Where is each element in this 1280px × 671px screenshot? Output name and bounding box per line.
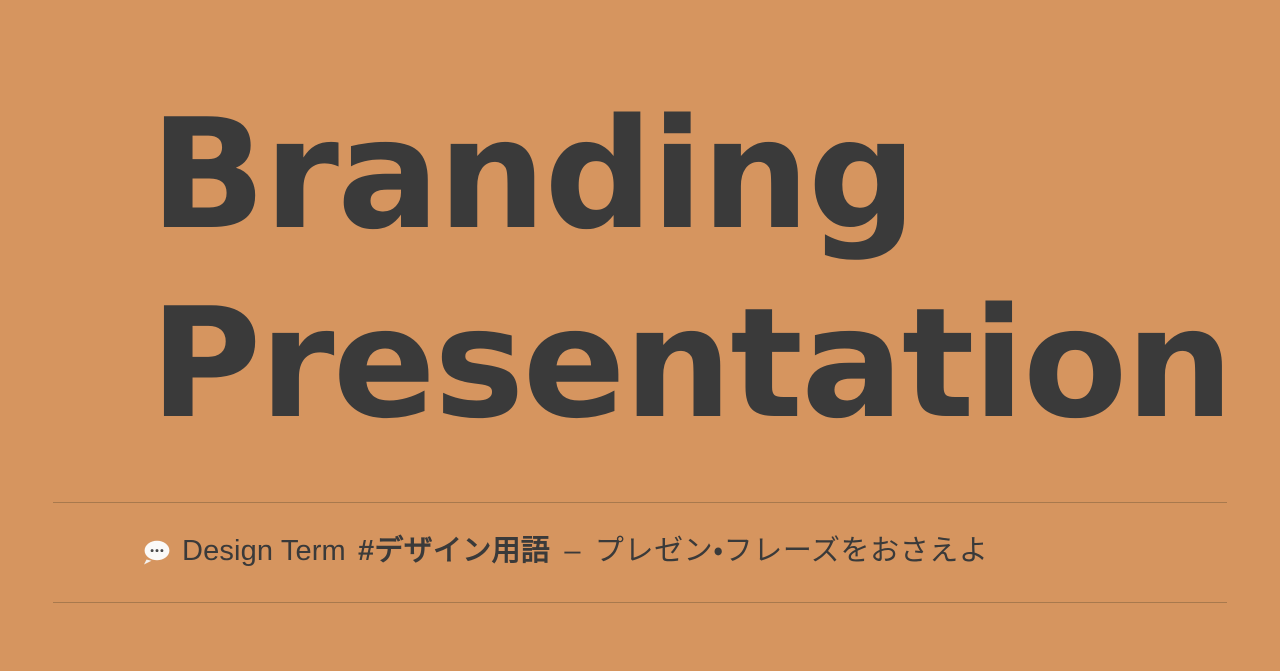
slide-title-line-1: Branding <box>150 78 1150 273</box>
presentation-slide: Branding Presentation Design Term #デザイン用… <box>0 0 1280 671</box>
subtitle-japanese-phrase: プレゼン・フレーズをおさえよ <box>595 535 989 567</box>
subtitle-hashtag: #デザイン用語 <box>358 535 550 567</box>
speech-balloon-icon <box>142 539 172 563</box>
slide-subtitle: Design Term #デザイン用語 – プレゼン・フレーズをおさえよ <box>142 516 988 586</box>
subtitle-english-label: Design Term <box>182 535 346 567</box>
slide-title-block: Branding Presentation <box>150 78 1150 461</box>
divider-bottom <box>53 602 1227 603</box>
divider-top <box>53 502 1227 503</box>
subtitle-separator: – <box>562 535 582 567</box>
subtitle-text-group: Design Term #デザイン用語 – プレゼン・フレーズをおさえよ <box>182 537 988 566</box>
slide-title-line-2: Presentation <box>150 267 1150 462</box>
